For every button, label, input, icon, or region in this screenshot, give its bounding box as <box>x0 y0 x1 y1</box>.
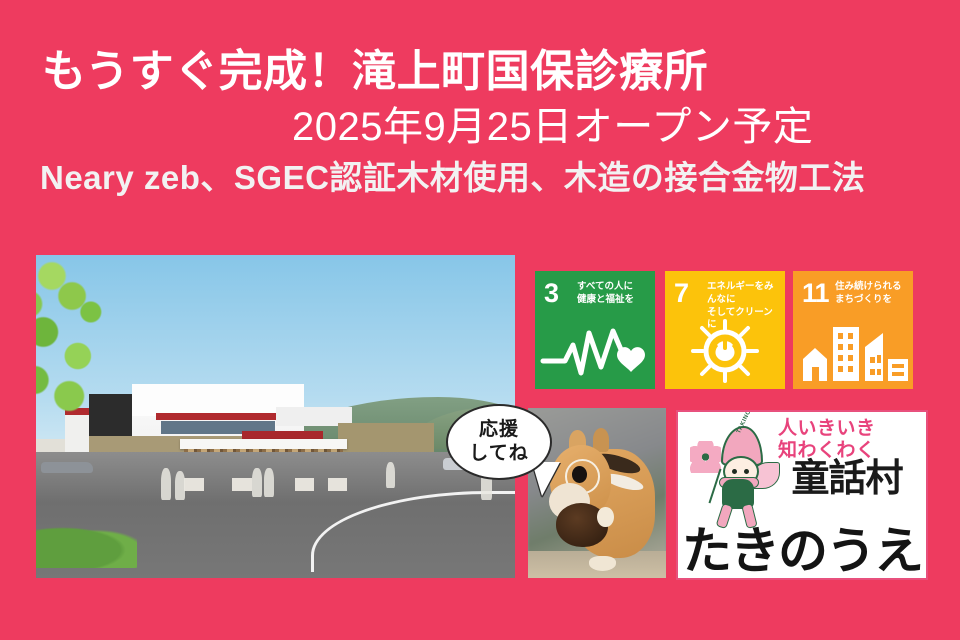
sdg-caption: 住み続けられる まちづくりを <box>835 281 909 307</box>
sdg-tile-goal-11: 11 住み続けられる まちづくりを <box>793 271 913 389</box>
sdg-caption: すべての人に 健康と福祉を <box>577 281 651 307</box>
mascot-eye <box>732 469 737 474</box>
canopy-pillar-base <box>295 478 314 491</box>
figure-person <box>175 471 186 500</box>
logo-tagline-line-1: 人いきいき <box>778 418 920 440</box>
canopy-pillar-base <box>184 478 203 491</box>
sdg-goals-row: 3 すべての人に 健康と福祉を 7 エネルギーをみんなに そしてクリーンに <box>535 271 935 389</box>
sdg-tile-goal-7: 7 エネルギーをみんなに そしてクリーンに <box>665 271 785 389</box>
parked-car <box>41 462 94 474</box>
flower-stem <box>708 469 721 504</box>
sdg-caption-line-1: すべての人に <box>577 281 651 294</box>
logo-middle-text: 童話村 <box>772 460 922 498</box>
figure-person <box>252 468 262 497</box>
town-logo-card: TAKINOUE 人いきいき 知わくわく 童話村 たきのうえ <box>676 410 928 580</box>
speech-bubble: 応援 してね <box>446 404 552 480</box>
sdg-tile-goal-3: 3 すべての人に 健康と福祉を <box>535 271 655 389</box>
headline-block: もうすぐ完成！滝上町国保診療所 2025年9月25日オープン予定 Neary z… <box>0 48 960 196</box>
figure-person <box>386 462 396 488</box>
speech-bubble-line-2: してね <box>469 442 528 466</box>
entrance-canopy-red-edge <box>242 431 323 439</box>
logo-town-name: たきのうえ <box>678 526 926 576</box>
canopy-pillar-base <box>328 478 347 491</box>
headline-line-1: もうすぐ完成！滝上町国保診療所 <box>0 48 960 96</box>
mascot-eye <box>744 469 749 474</box>
sun-power-icon <box>665 319 785 383</box>
headline-line-2-open-date: 2025年9月25日オープン予定 <box>0 104 960 150</box>
foreground-bush <box>36 523 137 568</box>
sdg-caption-line-2: まちづくりを <box>835 294 909 307</box>
chipmunk-paw <box>597 507 614 527</box>
speech-bubble-line-1: 応援 <box>479 418 519 442</box>
clinic-rendering-photo <box>36 255 515 578</box>
heartbeat-icon <box>535 319 655 383</box>
logo-tagline: 人いきいき 知わくわく <box>778 418 920 462</box>
sdg-caption-line-2: 健康と福祉を <box>577 294 651 307</box>
cityscape-icon <box>793 319 913 383</box>
entrance-canopy-roof <box>180 439 348 449</box>
figure-person <box>264 468 274 497</box>
figure-person <box>161 468 172 500</box>
poster-canvas: もうすぐ完成！滝上町国保診療所 2025年9月25日オープン予定 Neary z… <box>0 0 960 640</box>
mascot-hat-text: TAKINOUE <box>736 410 757 435</box>
chipmunk-eye <box>572 466 587 483</box>
sdg-number: 11 <box>802 280 829 307</box>
sdg-caption-line-1: エネルギーをみんなに <box>707 281 781 307</box>
building-red-accent-band <box>156 413 285 420</box>
foreground-tree <box>36 255 170 452</box>
takinoue-mascot-illustration: TAKINOUE <box>692 426 782 532</box>
sdg-number: 7 <box>674 280 688 307</box>
cherry-blossom-icon <box>690 441 721 473</box>
headline-line-3-features: Neary zeb、SGEC認証木材使用、木造の接合金物工法 <box>0 159 960 197</box>
sdg-caption-line-1: 住み続けられる <box>835 281 909 294</box>
sdg-number: 3 <box>544 280 558 307</box>
canopy-pillar-base <box>232 478 251 491</box>
